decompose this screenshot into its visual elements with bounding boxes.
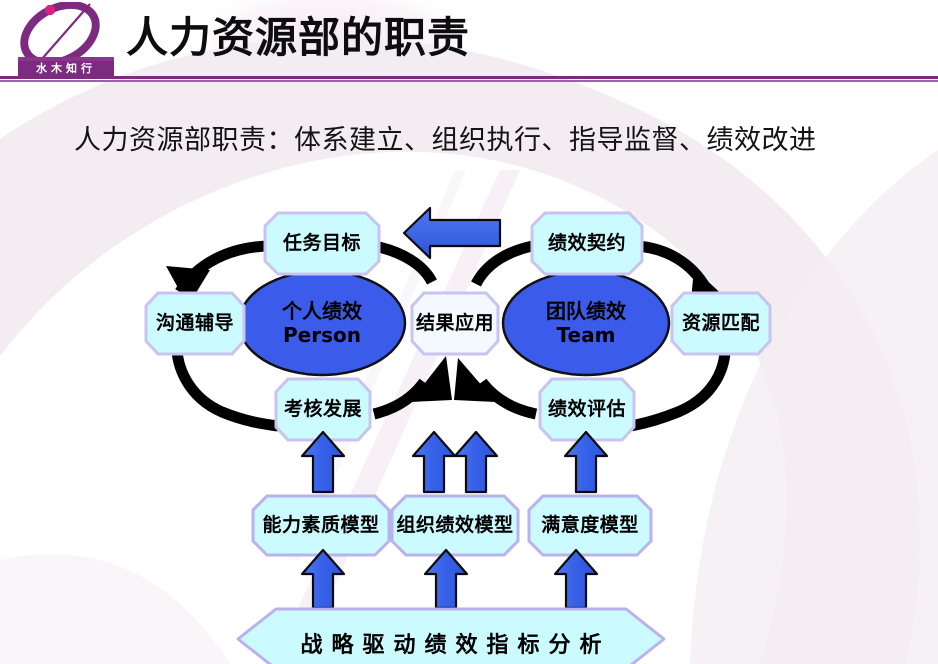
feed-arrow-org-to-assessment — [413, 432, 455, 492]
node-person-bottom-shape — [276, 379, 370, 440]
feed-arrow-org-to-evaluation — [455, 432, 497, 492]
node-result-apply-shape — [412, 293, 498, 354]
model-satisfaction-shape — [529, 496, 651, 555]
feed-arrow-foundation-to-org — [425, 550, 467, 608]
person-cycle-arc-bottom-right — [374, 356, 452, 414]
person-center-ellipse — [239, 271, 405, 375]
page-title: 人力资源部的职责 — [126, 10, 470, 66]
slide-root: 水木知行 人力资源部的职责 人力资源部职责：体系建立、组织执行、指导监督、绩效改… — [0, 0, 938, 664]
diagram-shapes — [0, 160, 938, 664]
team-cycle-arc-left-top — [476, 245, 538, 284]
team-center-ellipse — [503, 271, 669, 375]
title-divider — [0, 76, 938, 83]
foundation-banner-shape — [238, 609, 664, 664]
node-team-bottom-shape — [540, 379, 634, 440]
model-org-shape — [392, 496, 518, 555]
link-arrow-left — [404, 208, 500, 258]
title-divider-line-primary — [0, 76, 938, 79]
model-ability-shape — [253, 496, 389, 555]
feed-arrow-foundation-to-ability — [302, 550, 344, 608]
feed-arrow-foundation-to-satisfaction — [555, 550, 597, 608]
slide-header: 水木知行 人力资源部的职责 — [0, 0, 938, 86]
node-team-top-shape — [532, 213, 642, 274]
subtitle-text: 人力资源部职责：体系建立、组织执行、指导监督、绩效改进 — [74, 118, 817, 157]
company-logo: 水木知行 — [8, 2, 116, 80]
node-team-right-shape — [672, 293, 770, 354]
node-person-left-shape — [146, 293, 244, 354]
performance-cycle-diagram: 任务目标 沟通辅导 考核发展 结果应用 绩效契约 资源匹配 绩效评估 个人绩效 … — [0, 160, 938, 664]
title-divider-line-secondary — [0, 80, 938, 82]
node-person-top-shape — [265, 213, 379, 274]
team-cycle-arc-bottom-left — [454, 358, 536, 414]
